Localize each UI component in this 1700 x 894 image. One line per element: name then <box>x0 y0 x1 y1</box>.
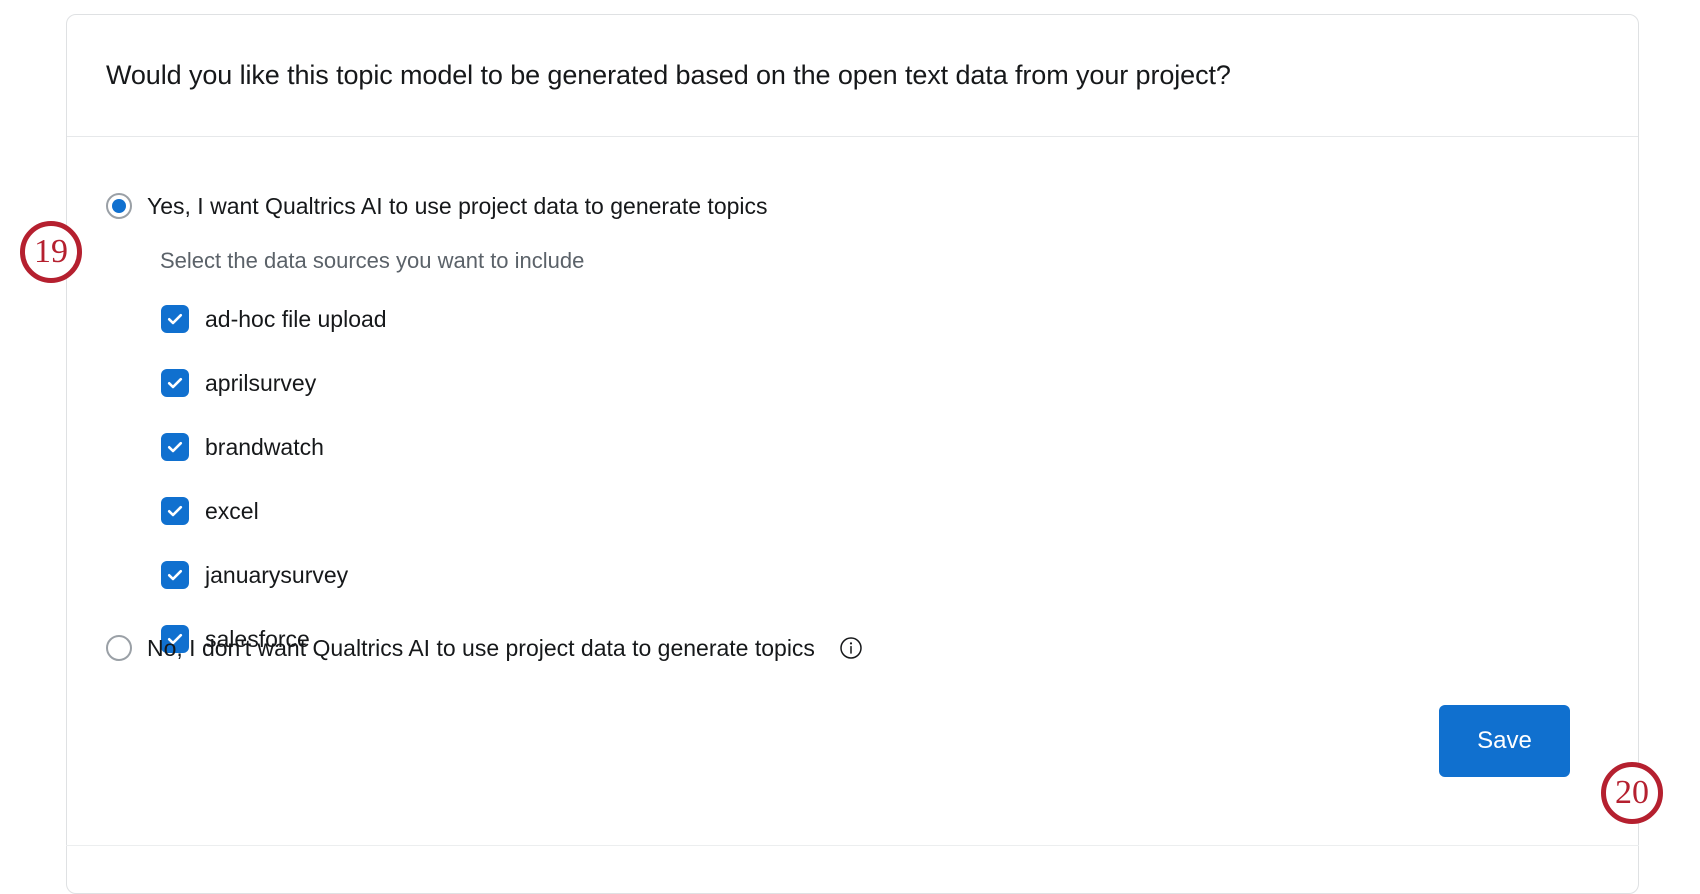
radio-yes-icon[interactable] <box>106 193 132 219</box>
checkbox-label: excel <box>205 497 259 525</box>
checkbox-label: aprilsurvey <box>205 369 316 397</box>
checkbox-checked-icon[interactable] <box>161 433 189 461</box>
checkbox-row[interactable]: januarysurvey <box>161 543 861 607</box>
card-body: Yes, I want Qualtrics AI to use project … <box>67 137 1638 893</box>
checkbox-checked-icon[interactable] <box>161 561 189 589</box>
radio-no-label: No, I don't want Qualtrics AI to use pro… <box>147 634 815 662</box>
checkbox-row[interactable]: aprilsurvey <box>161 351 861 415</box>
checkbox-row[interactable]: excel <box>161 479 861 543</box>
checkbox-checked-icon[interactable] <box>161 497 189 525</box>
checkbox-row[interactable]: ad-hoc file upload <box>161 287 861 351</box>
data-sources-checkbox-list: ad-hoc file upload aprilsurvey brandwatc… <box>161 287 861 671</box>
radio-no-icon[interactable] <box>106 635 132 661</box>
page-title: Would you like this topic model to be ge… <box>106 58 1231 92</box>
checkbox-row[interactable]: brandwatch <box>161 415 861 479</box>
checkbox-label: januarysurvey <box>205 561 348 589</box>
annotation-badge-19: 19 <box>20 221 82 283</box>
radio-option-no[interactable]: No, I don't want Qualtrics AI to use pro… <box>106 634 863 662</box>
checkbox-label: brandwatch <box>205 433 324 461</box>
page-divider <box>66 845 1639 846</box>
save-button[interactable]: Save <box>1439 705 1570 777</box>
info-circle-icon[interactable] <box>839 636 863 660</box>
checkbox-checked-icon[interactable] <box>161 369 189 397</box>
annotation-badge-20: 20 <box>1601 762 1663 824</box>
checkbox-label: ad-hoc file upload <box>205 305 387 333</box>
topic-model-settings-card: Would you like this topic model to be ge… <box>66 14 1639 894</box>
card-header: Would you like this topic model to be ge… <box>67 15 1638 137</box>
checkbox-checked-icon[interactable] <box>161 305 189 333</box>
radio-option-yes[interactable]: Yes, I want Qualtrics AI to use project … <box>106 192 768 220</box>
radio-yes-label: Yes, I want Qualtrics AI to use project … <box>147 192 768 220</box>
data-sources-section-label: Select the data sources you want to incl… <box>160 247 584 275</box>
